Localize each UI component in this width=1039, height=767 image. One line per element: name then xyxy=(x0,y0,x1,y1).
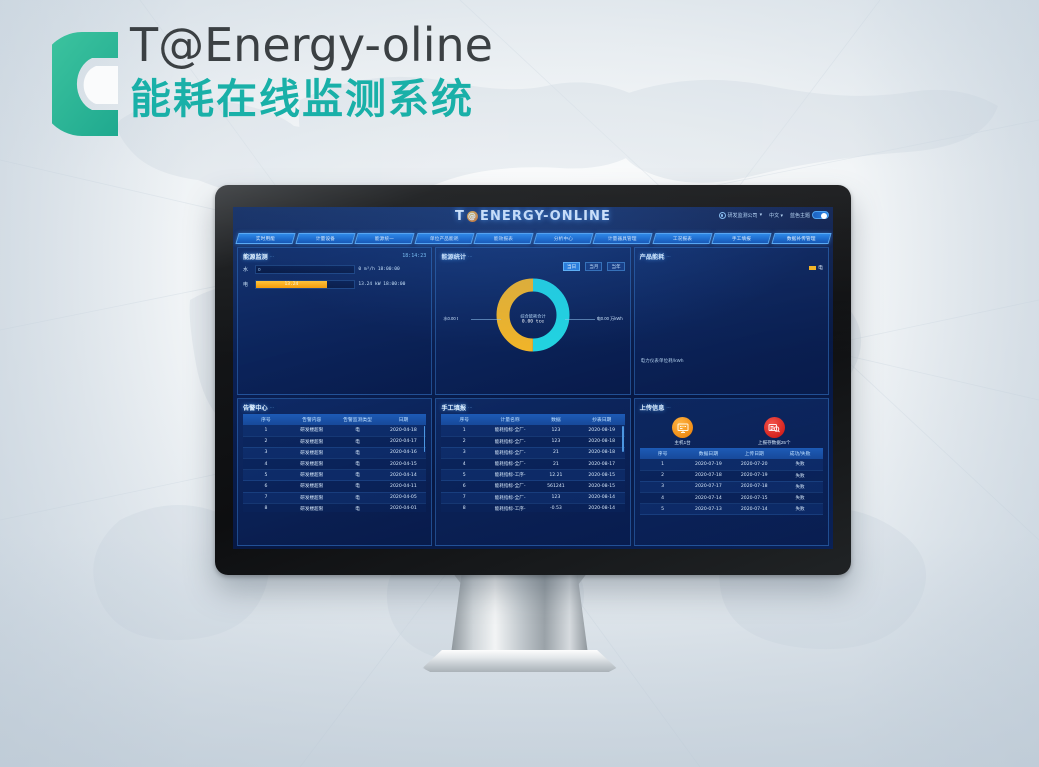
donut-center-label: 综合能耗合计 0.00 tce xyxy=(506,314,560,325)
nav-item-5[interactable]: 分析中心 xyxy=(533,233,593,244)
table-cell: 21 xyxy=(533,458,579,469)
table-cell: 研发楼超限 xyxy=(289,425,335,436)
table-cell: 3 xyxy=(441,447,487,458)
table-row[interactable]: 4研发楼超限电2020-04-15 xyxy=(243,458,426,469)
nav-item-0[interactable]: 实时用能 xyxy=(235,233,295,244)
column-header: 日期 xyxy=(380,414,426,425)
panel-title-text: 手工填报 xyxy=(441,403,466,412)
table-cell: 6 xyxy=(441,481,487,492)
table-cell: 8 xyxy=(441,503,487,512)
table-cell: 研发楼超限 xyxy=(289,436,335,447)
table-cell: 能耗指标-全厂- xyxy=(487,492,533,503)
upload-table: 序号数据日期上传日期成功/失败 12020-07-192020-07-20失败2… xyxy=(640,448,823,515)
table-cell: 2020-04-11 xyxy=(380,481,426,492)
column-header: 序号 xyxy=(243,414,289,425)
period-day[interactable]: 当日 xyxy=(563,262,580,271)
table-cell: -0.53 xyxy=(533,503,579,512)
table-row[interactable]: 3研发楼超限电2020-04-16 xyxy=(243,447,426,458)
app-title-right: ENERGY-ONLINE xyxy=(480,209,611,224)
table-cell: 2020-08-14 xyxy=(579,503,625,512)
table-cell: 研发楼超限 xyxy=(289,492,335,503)
bar-fill: 13.24 xyxy=(256,281,327,288)
table-header-row: 序号告警内容告警监测类型日期 xyxy=(243,414,426,425)
nav-label: 单位产品能耗 xyxy=(429,236,458,242)
panel-title: 告警中心 ⋯ xyxy=(243,403,274,412)
table-row[interactable]: 6研发楼超限电2020-04-11 xyxy=(243,481,426,492)
table-cell: 2020-08-15 xyxy=(579,470,625,481)
table-header-row: 序号数据日期上传日期成功/失败 xyxy=(640,448,823,459)
table-cell: 123 xyxy=(533,492,579,503)
panel-energy-stats: 能源统计 ⋯ 当日 当月 当年 综合 xyxy=(435,247,630,395)
more-icon[interactable]: ⋯ xyxy=(270,405,274,410)
table-cell: 2020-04-18 xyxy=(380,425,426,436)
bar-track: 0 xyxy=(255,265,355,274)
nav-item-2[interactable]: 能源统一 xyxy=(354,233,414,244)
table-cell: 4 xyxy=(640,492,686,503)
column-header: 抄表日期 xyxy=(579,414,625,425)
panel-upload-info: 上传信息 ⋯ 主机1台 xyxy=(634,398,829,546)
table-row[interactable]: 3能耗指标-全厂-212020-08-18 xyxy=(441,447,624,458)
table-cell: 能耗指标-全厂- xyxy=(487,436,533,447)
panel-title: 产品能耗 ⋯ xyxy=(640,252,671,261)
table-cell: 电 xyxy=(335,436,381,447)
table-cell: 7 xyxy=(441,492,487,503)
table-row[interactable]: 8能耗指标-工序--0.532020-08-14 xyxy=(441,503,624,512)
user-menu[interactable]: 研发监测公司 ▾ xyxy=(719,212,763,219)
panel-title-text: 能源监测 xyxy=(243,252,268,261)
more-icon[interactable]: ⋯ xyxy=(468,254,472,259)
energy-bar-row-water: 水 0 0 m³/h 18:00:00 xyxy=(243,265,426,274)
app-title: T @ ENERGY-ONLINE xyxy=(455,209,611,224)
table-cell: 123 xyxy=(533,425,579,436)
upload-stat-data-caption: 上报存数据25个 xyxy=(758,440,791,446)
table-header-row: 序号计量名称数据抄表日期 xyxy=(441,414,624,425)
table-cell: 研发楼超限 xyxy=(289,481,335,492)
more-icon[interactable]: ⋯ xyxy=(270,254,274,259)
upload-stat-host-caption: 主机1台 xyxy=(672,440,693,446)
table-cell: 2020-04-17 xyxy=(380,436,426,447)
bar-meta: 0 m³/h 18:00:00 xyxy=(358,267,426,272)
table-cell: 2 xyxy=(640,470,686,481)
table-cell: 6 xyxy=(243,481,289,492)
upload-stat-host[interactable]: 主机1台 xyxy=(672,417,693,446)
table-cell: 能耗指标-全厂- xyxy=(487,458,533,469)
theme-toggle[interactable] xyxy=(812,211,829,219)
table-cell: 2020-04-15 xyxy=(380,458,426,469)
donut-label-power: 电0.00 万kWh xyxy=(597,316,623,322)
nav-label: 数据补传管理 xyxy=(786,236,815,242)
bar-meta: 13.24 kW 18:00:00 xyxy=(358,282,426,287)
panel-title: 能源统计 ⋯ xyxy=(441,252,472,261)
table-cell: 2020-07-17 xyxy=(685,481,731,492)
nav-label: 能源统一 xyxy=(375,236,394,242)
table-cell: 2020-08-19 xyxy=(579,425,625,436)
nav-item-9[interactable]: 数据补传管理 xyxy=(771,233,831,244)
more-icon[interactable]: ⋯ xyxy=(666,254,670,259)
bar-label: 水 xyxy=(243,266,252,273)
upload-stat-icons: 主机1台 上报存数据25个 xyxy=(640,417,823,446)
table-cell: 2 xyxy=(441,436,487,447)
table-cell: 电 xyxy=(335,425,381,436)
table-row[interactable]: 7研发楼超限电2020-04-05 xyxy=(243,492,426,503)
manual-table-wrap: 序号计量名称数据抄表日期 1能耗指标-全厂-1232020-08-192能耗指标… xyxy=(441,412,624,512)
table-cell: 研发楼超限 xyxy=(289,458,335,469)
table-cell: 能耗指标-工序- xyxy=(487,470,533,481)
table-row[interactable]: 42020-07-142020-07-15失败 xyxy=(640,492,823,503)
panel-title: 手工填报 ⋯ xyxy=(441,403,472,412)
panel-title-text: 上传信息 xyxy=(640,403,665,412)
nav-item-7[interactable]: 工况报表 xyxy=(652,233,712,244)
table-cell: 561241 xyxy=(533,481,579,492)
monitor-stand-base xyxy=(423,650,617,672)
panel-alarm-center: 告警中心 ⋯ 序号告警内容告警监测类型日期 1研发楼超限电2020-04-182… xyxy=(237,398,432,546)
table-cell: 4 xyxy=(441,458,487,469)
panel-energy-monitor: 能源监测 ⋯ 18:14:23 水 0 0 m³/h 18:00:00 电 xyxy=(237,247,432,395)
table-cell: 电 xyxy=(335,447,381,458)
table-cell: 2020-08-18 xyxy=(579,447,625,458)
table-cell: 失败 xyxy=(777,481,823,492)
column-header: 序号 xyxy=(441,414,487,425)
theme-switch[interactable]: 蓝色主题 xyxy=(790,211,829,219)
data-report-icon xyxy=(764,417,785,438)
user-label: 研发监测公司 xyxy=(728,212,758,219)
panel-header: 能源监测 ⋯ 18:14:23 xyxy=(243,251,426,261)
table-cell: 2020-07-18 xyxy=(685,470,731,481)
table-cell: 电 xyxy=(335,470,381,481)
panel-header: 告警中心 ⋯ xyxy=(243,402,426,412)
table-cell: 7 xyxy=(243,492,289,503)
page-title-en: T@Energy-oline xyxy=(130,18,493,72)
donut-label-water: 水0.00 t xyxy=(443,316,458,322)
table-cell: 2020-04-05 xyxy=(380,492,426,503)
panel-header: 产品能耗 ⋯ xyxy=(640,251,823,261)
bar-track: 13.24 xyxy=(255,280,355,289)
clock-display: 18:14:23 xyxy=(402,253,426,259)
manual-entry-table: 序号计量名称数据抄表日期 1能耗指标-全厂-1232020-08-192能耗指标… xyxy=(441,414,624,512)
table-cell: 4 xyxy=(243,458,289,469)
period-month[interactable]: 当月 xyxy=(585,262,602,271)
c-mark-logo-icon xyxy=(52,26,120,142)
donut-center-value: 0.00 tce xyxy=(506,320,560,325)
column-header: 告警内容 xyxy=(289,414,335,425)
table-cell: 能耗指标-全厂- xyxy=(487,481,533,492)
manual-scrollbar[interactable] xyxy=(622,426,624,452)
nav-item-1[interactable]: 计量设备 xyxy=(295,233,355,244)
table-cell: 2020-07-14 xyxy=(731,504,777,515)
panel-product-energy: 产品能耗 ⋯ 电 电力仪表单位耗/kWh xyxy=(634,247,829,395)
table-cell: 电 xyxy=(335,492,381,503)
upload-stat-data[interactable]: 上报存数据25个 xyxy=(758,417,791,446)
column-header: 告警监测类型 xyxy=(335,414,381,425)
nav-label: 实时用能 xyxy=(256,236,275,242)
table-cell: 5 xyxy=(243,470,289,481)
app-header: T @ ENERGY-ONLINE 研发监测公司 ▾ 中文 ▾ 蓝色主题 xyxy=(233,207,833,231)
table-row[interactable]: 2能耗指标-全厂-1232020-08-18 xyxy=(441,436,624,447)
more-icon[interactable]: ⋯ xyxy=(666,405,670,410)
table-row[interactable]: 5研发楼超限电2020-04-14 xyxy=(243,470,426,481)
table-cell: 2020-07-20 xyxy=(731,459,777,470)
alarm-table: 序号告警内容告警监测类型日期 1研发楼超限电2020-04-182研发楼超限电2… xyxy=(243,414,426,512)
more-icon[interactable]: ⋯ xyxy=(468,405,472,410)
table-cell: 能耗指标-全厂- xyxy=(487,447,533,458)
panel-title: 能源监测 ⋯ xyxy=(243,252,274,261)
table-cell: 研发楼超限 xyxy=(289,470,335,481)
table-body: 12020-07-192020-07-20失败22020-07-182020-0… xyxy=(640,459,823,514)
header-right-tools: 研发监测公司 ▾ 中文 ▾ 蓝色主题 xyxy=(719,211,829,219)
table-cell: 2020-08-15 xyxy=(579,481,625,492)
table-cell: 2020-08-18 xyxy=(579,436,625,447)
table-cell: 2020-07-18 xyxy=(731,481,777,492)
panel-title-text: 能源统计 xyxy=(441,252,466,261)
nav-label: 分析中心 xyxy=(553,236,572,242)
product-axis-label: 电力仪表单位耗/kWh xyxy=(641,358,684,364)
table-cell: 研发楼超限 xyxy=(289,503,335,512)
panel-header: 能源统计 ⋯ xyxy=(441,251,624,261)
monitor-bezel: T @ ENERGY-ONLINE 研发监测公司 ▾ 中文 ▾ 蓝色主题 xyxy=(215,185,851,575)
main-nav: 实时用能 计量设备 能源统一 单位产品能耗 能效报表 分析中心 计量器具管理 工… xyxy=(233,233,833,244)
table-cell: 3 xyxy=(243,447,289,458)
table-cell: 123 xyxy=(533,436,579,447)
table-row[interactable]: 2研发楼超限电2020-04-17 xyxy=(243,436,426,447)
nav-item-8[interactable]: 手工填报 xyxy=(711,233,771,244)
column-header: 数据 xyxy=(533,414,579,425)
alarm-table-wrap: 序号告警内容告警监测类型日期 1研发楼超限电2020-04-182研发楼超限电2… xyxy=(243,412,426,512)
bar-label: 电 xyxy=(243,281,252,288)
table-row[interactable]: 1能耗指标-全厂-1232020-08-19 xyxy=(441,425,624,436)
table-cell: 1 xyxy=(640,459,686,470)
user-icon xyxy=(719,212,726,219)
table-cell: 能耗指标-全厂- xyxy=(487,425,533,436)
column-header: 数据日期 xyxy=(685,448,731,459)
table-cell: 失败 xyxy=(777,470,823,481)
period-year[interactable]: 当年 xyxy=(607,262,624,271)
table-cell: 失败 xyxy=(777,504,823,515)
energy-bar-list: 水 0 0 m³/h 18:00:00 电 13.24 1 xyxy=(243,265,426,289)
table-cell: 2020-08-14 xyxy=(579,492,625,503)
table-body: 1能耗指标-全厂-1232020-08-192能耗指标-全厂-1232020-0… xyxy=(441,425,624,512)
table-cell: 电 xyxy=(335,503,381,512)
nav-label: 能效报表 xyxy=(494,236,513,242)
at-badge-icon: @ xyxy=(467,211,478,222)
table-cell: 3 xyxy=(640,481,686,492)
table-cell: 能耗指标-工序- xyxy=(487,503,533,512)
panel-title-text: 告警中心 xyxy=(243,403,268,412)
table-body: 1研发楼超限电2020-04-182研发楼超限电2020-04-173研发楼超限… xyxy=(243,425,426,512)
column-header: 上传日期 xyxy=(731,448,777,459)
table-row[interactable]: 6能耗指标-全厂-5612412020-08-15 xyxy=(441,481,624,492)
panel-title: 上传信息 ⋯ xyxy=(640,403,671,412)
table-row[interactable]: 32020-07-172020-07-18失败 xyxy=(640,481,823,492)
dashboard-screen: T @ ENERGY-ONLINE 研发监测公司 ▾ 中文 ▾ 蓝色主题 xyxy=(233,207,833,549)
energy-bar-row-power: 电 13.24 13.24 kW 18:00:00 xyxy=(243,280,426,289)
app-title-left: T xyxy=(455,209,465,224)
bar-value-text: 13.24 xyxy=(284,282,298,287)
table-cell: 8 xyxy=(243,503,289,512)
table-cell: 失败 xyxy=(777,459,823,470)
panel-header: 手工填报 ⋯ xyxy=(441,402,624,412)
table-cell: 2020-04-16 xyxy=(380,447,426,458)
monitor-host-icon xyxy=(672,417,693,438)
panel-title-text: 产品能耗 xyxy=(640,252,665,261)
language-label: 中文 ▾ xyxy=(769,212,783,219)
theme-label: 蓝色主题 xyxy=(790,212,810,219)
table-cell: 2020-07-19 xyxy=(685,459,731,470)
nav-label: 计量设备 xyxy=(315,236,334,242)
table-row[interactable]: 8研发楼超限电2020-04-01 xyxy=(243,503,426,512)
table-cell: 研发楼超限 xyxy=(289,447,335,458)
table-row[interactable]: 7能耗指标-全厂-1232020-08-14 xyxy=(441,492,624,503)
legend-swatch-power xyxy=(809,266,816,270)
table-cell: 电 xyxy=(335,458,381,469)
table-cell: 21 xyxy=(533,447,579,458)
table-cell: 2020-07-14 xyxy=(685,492,731,503)
table-cell: 2 xyxy=(243,436,289,447)
table-row[interactable]: 12020-07-192020-07-20失败 xyxy=(640,459,823,470)
period-filter: 当日 当月 当年 xyxy=(441,262,624,271)
nav-item-4[interactable]: 能效报表 xyxy=(473,233,533,244)
brand-title-block: T@Energy-oline 能耗在线监测系统 xyxy=(52,22,493,142)
table-cell: 电 xyxy=(335,481,381,492)
nav-item-3[interactable]: 单位产品能耗 xyxy=(414,233,474,244)
table-cell: 5 xyxy=(640,504,686,515)
nav-label: 工况报表 xyxy=(672,236,691,242)
column-header: 成功/失败 xyxy=(777,448,823,459)
column-header: 计量名称 xyxy=(487,414,533,425)
table-cell: 12.21 xyxy=(533,470,579,481)
nav-label: 手工填报 xyxy=(732,236,751,242)
dashboard-grid: 能源监测 ⋯ 18:14:23 水 0 0 m³/h 18:00:00 电 xyxy=(237,247,829,546)
table-row[interactable]: 52020-07-132020-07-14失败 xyxy=(640,504,823,515)
table-row[interactable]: 1研发楼超限电2020-04-18 xyxy=(243,425,426,436)
table-cell: 2020-07-13 xyxy=(685,504,731,515)
table-row[interactable]: 22020-07-182020-07-19失败 xyxy=(640,470,823,481)
panel-manual-entry: 手工填报 ⋯ 序号计量名称数据抄表日期 1能耗指标-全厂-1232020-08-… xyxy=(435,398,630,546)
table-cell: 5 xyxy=(441,470,487,481)
language-switch[interactable]: 中文 ▾ xyxy=(769,212,783,219)
table-cell: 失败 xyxy=(777,492,823,503)
legend-label-power: 电 xyxy=(818,264,823,271)
table-cell: 2020-07-19 xyxy=(731,470,777,481)
table-row[interactable]: 5能耗指标-工序-12.212020-08-15 xyxy=(441,470,624,481)
column-header: 序号 xyxy=(640,448,686,459)
chevron-down-icon: ▾ xyxy=(760,212,763,218)
table-row[interactable]: 4能耗指标-全厂-212020-08-17 xyxy=(441,458,624,469)
monitor-stand-neck-surface xyxy=(451,574,589,658)
table-cell: 2020-07-15 xyxy=(731,492,777,503)
table-cell: 2020-08-17 xyxy=(579,458,625,469)
product-legend: 电 xyxy=(640,264,823,271)
table-cell: 2020-04-01 xyxy=(380,503,426,512)
bar-value-text: 0 xyxy=(258,267,261,272)
nav-item-6[interactable]: 计量器具管理 xyxy=(592,233,652,244)
table-cell: 1 xyxy=(243,425,289,436)
nav-label: 计量器具管理 xyxy=(608,236,637,242)
donut-chart: 综合能耗合计 0.00 tce 水0.00 t 电0.00 万kWh xyxy=(441,273,624,365)
page-title-cn: 能耗在线监测系统 xyxy=(130,74,493,125)
table-cell: 1 xyxy=(441,425,487,436)
table-cell: 2020-04-14 xyxy=(380,470,426,481)
panel-header: 上传信息 ⋯ xyxy=(640,402,823,412)
